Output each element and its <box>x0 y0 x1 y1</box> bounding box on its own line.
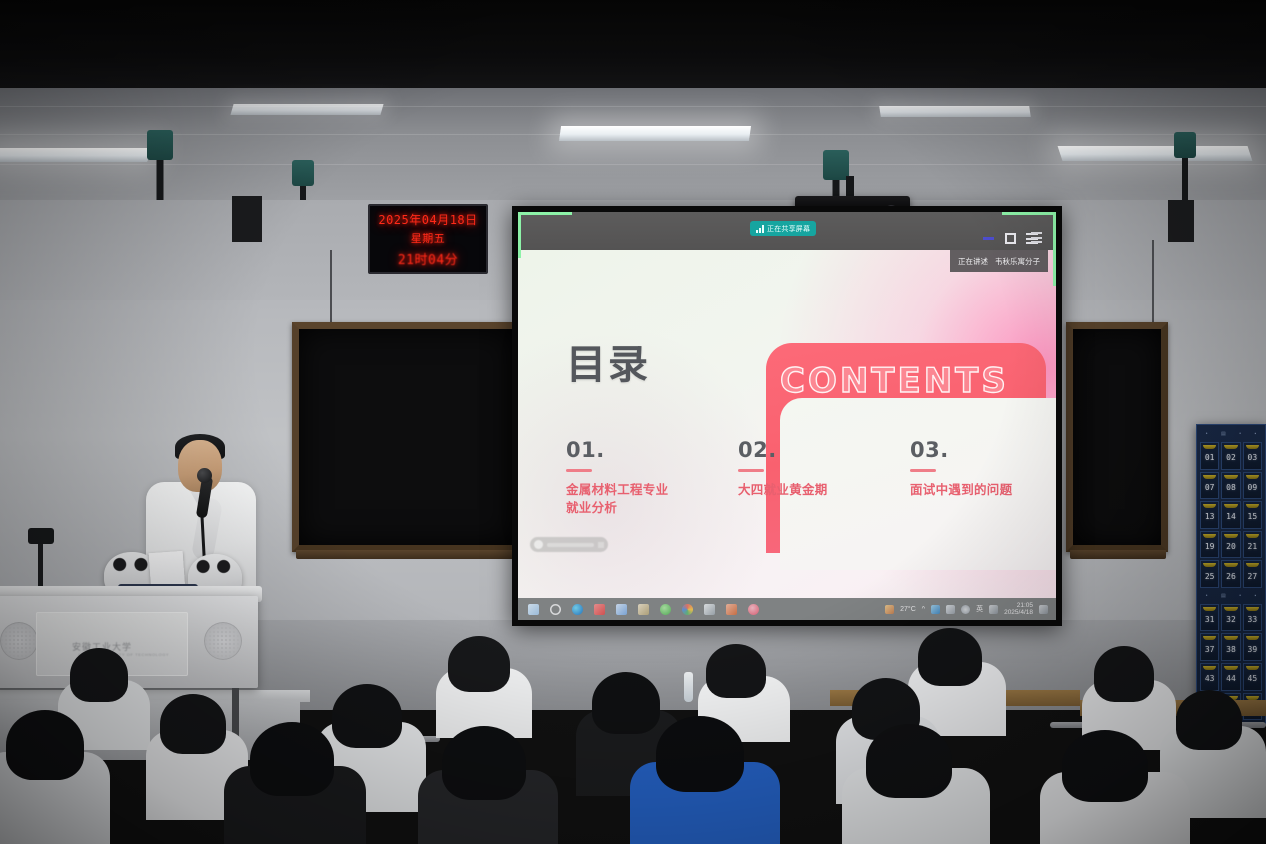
locker-number: 44 <box>1226 674 1236 683</box>
student-head <box>1176 690 1242 750</box>
student-head <box>448 636 510 692</box>
microphone-head-icon <box>197 468 212 483</box>
narrator-status: 正在讲述 <box>958 256 988 267</box>
weather-temperature: 27°C <box>900 606 916 613</box>
locker-panel-header: •▤•▪ <box>1200 428 1262 440</box>
battery-icon[interactable] <box>989 605 998 614</box>
contents-item[interactable]: 01. 金属材料工程专业就业分析 <box>566 438 676 517</box>
chrome-icon[interactable] <box>682 604 693 615</box>
ime-indicator[interactable]: 英 <box>976 604 983 614</box>
locker-cell[interactable]: 20 <box>1221 531 1240 559</box>
locker-cell[interactable]: 15 <box>1243 501 1262 529</box>
network-icon[interactable] <box>931 605 940 614</box>
locker-cell[interactable]: 39 <box>1243 633 1262 661</box>
locker-cell[interactable]: 08 <box>1221 472 1240 500</box>
photos-icon[interactable] <box>638 604 649 615</box>
windows-taskbar[interactable]: 27°C ^ 英 21:05 2025/4/18 <box>518 598 1056 620</box>
student-head <box>918 628 982 686</box>
locker-cell[interactable]: 07 <box>1200 472 1219 500</box>
wechat-icon[interactable] <box>660 604 671 615</box>
locker-number: 31 <box>1205 615 1215 624</box>
locker-number: 26 <box>1226 572 1236 581</box>
locker-cell[interactable]: 25 <box>1200 560 1219 588</box>
locker-number: 38 <box>1226 645 1236 654</box>
blackboard-left <box>292 322 520 552</box>
led-clock-date: 2025年04月18日 <box>378 211 477 228</box>
item-label: 大四就业黄金期 <box>738 481 848 499</box>
screen-share-badge[interactable]: 正在共享屏幕 <box>750 221 816 236</box>
locker-number: 20 <box>1226 542 1236 551</box>
speech-icon[interactable] <box>946 605 955 614</box>
narrator-tooltip: 正在讲述 韦秋乐寓分子 <box>950 250 1048 272</box>
locker-number: 43 <box>1205 674 1215 683</box>
chevron-up-icon[interactable]: ^ <box>922 606 925 613</box>
locker-number: 27 <box>1248 572 1258 581</box>
locker-row: 43 44 45 <box>1200 663 1262 691</box>
locker-cell[interactable]: 14 <box>1221 501 1240 529</box>
locker-row: 13 14 15 <box>1200 501 1262 529</box>
student-head <box>442 726 526 800</box>
signal-bars-icon <box>756 225 764 233</box>
item-number: 01. <box>566 438 676 462</box>
locker-number: 33 <box>1248 615 1258 624</box>
screen-corner-mark <box>518 212 572 215</box>
locker-cell[interactable]: 01 <box>1200 442 1219 470</box>
locker-cell[interactable]: 37 <box>1200 633 1219 661</box>
student-head <box>6 710 84 780</box>
item-number: 02. <box>738 438 848 462</box>
wall-speaker-box <box>232 196 262 242</box>
item-rule <box>738 469 764 472</box>
led-clock-display: 2025年04月18日 星期五 21时04分 <box>368 204 488 274</box>
settings-icon[interactable] <box>961 605 970 614</box>
taskbar-clock-date: 2025/4/18 <box>1004 609 1033 616</box>
locker-cell[interactable]: 44 <box>1221 663 1240 691</box>
locker-cell[interactable]: 09 <box>1243 472 1262 500</box>
projection-screen-surface[interactable]: 正在共享屏幕 正在讲述 韦秋乐寓分子 CONTENTS 目录 <box>518 212 1056 620</box>
toolbar-field <box>547 543 594 547</box>
more-options-icon[interactable] <box>1031 232 1042 243</box>
powerpoint-icon[interactable] <box>726 604 737 615</box>
locker-number: 02 <box>1226 453 1236 462</box>
taskbar-system-tray[interactable]: 27°C ^ 英 21:05 2025/4/18 <box>885 602 1056 617</box>
maximize-icon[interactable] <box>1004 232 1017 245</box>
student-head <box>160 694 226 754</box>
locker-number: 07 <box>1205 483 1215 492</box>
locker-cell[interactable]: 26 <box>1221 560 1240 588</box>
locker-cell[interactable]: 38 <box>1221 633 1240 661</box>
chalk-tray <box>1070 550 1166 559</box>
wall-speaker-box <box>1168 200 1194 242</box>
contents-item[interactable]: 02. 大四就业黄金期 <box>738 438 848 517</box>
contents-heading: CONTENTS <box>780 361 1009 401</box>
taskbar-clock[interactable]: 21:05 2025/4/18 <box>1004 602 1033 617</box>
contents-items: 01. 金属材料工程专业就业分析 02. 大四就业黄金期 03. 面试中遇到的问… <box>566 438 1020 517</box>
locker-cell[interactable]: 32 <box>1221 604 1240 632</box>
locker-number: 39 <box>1248 645 1258 654</box>
narrator-detail: 韦秋乐寓分子 <box>995 256 1040 267</box>
screen-corner-mark <box>1002 212 1056 215</box>
locker-number: 01 <box>1205 453 1215 462</box>
share-badge-label: 正在共享屏幕 <box>767 224 810 234</box>
camera-tripod-head <box>28 528 54 544</box>
locker-panel-divider: •▤•▪ <box>1200 590 1262 602</box>
phone-storage-locker-panel[interactable]: •▤•▪ 01 02 03 07 08 09 13 14 15 19 20 21… <box>1196 424 1266 724</box>
locker-cell[interactable]: 43 <box>1200 663 1219 691</box>
locker-cell[interactable]: 13 <box>1200 501 1219 529</box>
contents-item[interactable]: 03. 面试中遇到的问题 <box>910 438 1020 517</box>
led-clock-time: 21时04分 <box>398 249 458 268</box>
locker-number: 09 <box>1248 483 1258 492</box>
locker-cell[interactable]: 19 <box>1200 531 1219 559</box>
item-rule <box>566 469 592 472</box>
locker-row: 31 32 33 <box>1200 604 1262 632</box>
locker-number: 21 <box>1248 542 1258 551</box>
locker-row: 01 02 03 <box>1200 442 1262 470</box>
locker-cell[interactable]: 33 <box>1243 604 1262 632</box>
item-rule <box>910 469 936 472</box>
locker-number: 03 <box>1248 453 1258 462</box>
locker-row: 07 08 09 <box>1200 472 1262 500</box>
screen-corner-mark <box>1053 212 1056 286</box>
student-head <box>1062 730 1148 802</box>
locker-number: 15 <box>1248 512 1258 521</box>
file-explorer-icon[interactable] <box>616 604 627 615</box>
locker-cell[interactable]: 45 <box>1243 663 1262 691</box>
locker-number: 19 <box>1205 542 1215 551</box>
slide-floating-toolbar[interactable] <box>530 537 608 552</box>
toolbar-dot-icon <box>534 540 543 549</box>
projection-screen-frame: 正在共享屏幕 正在讲述 韦秋乐寓分子 CONTENTS 目录 <box>512 206 1062 626</box>
weather-icon[interactable] <box>885 605 894 614</box>
locker-number: 25 <box>1205 572 1215 581</box>
locker-number: 13 <box>1205 512 1215 521</box>
lectern-speaker-grille <box>0 622 38 660</box>
lectern-speaker-grille <box>204 622 242 660</box>
student-head <box>592 672 660 734</box>
student-head <box>70 648 128 702</box>
locker-number: 08 <box>1226 483 1236 492</box>
search-icon[interactable] <box>550 604 561 615</box>
student-head <box>866 724 952 798</box>
locker-number: 14 <box>1226 512 1236 521</box>
item-label: 金属材料工程专业就业分析 <box>566 481 676 517</box>
locker-cell[interactable]: 21 <box>1243 531 1262 559</box>
taskbar-app-icons[interactable] <box>518 604 759 615</box>
chalk-tray <box>296 550 516 559</box>
locker-row: 19 20 21 <box>1200 531 1262 559</box>
locker-cell[interactable]: 02 <box>1221 442 1240 470</box>
taskbar-clock-time: 21:05 <box>1017 602 1033 609</box>
locker-cell[interactable]: 31 <box>1200 604 1219 632</box>
blackboard-right <box>1066 322 1168 552</box>
ceiling-dark-band <box>0 0 1266 95</box>
window-controls[interactable] <box>982 232 1038 245</box>
water-bottle <box>684 672 693 702</box>
student-head <box>332 684 402 748</box>
powerpoint-slide[interactable]: CONTENTS 目录 01. 金属材料工程专业就业分析 02. 大四就业黄金期 <box>518 250 1056 598</box>
item-number: 03. <box>910 438 1020 462</box>
screen-corner-mark <box>518 212 521 258</box>
locker-row: 37 38 39 <box>1200 633 1262 661</box>
student-head <box>250 722 334 796</box>
student-head <box>1094 646 1154 702</box>
led-clock-weekday: 星期五 <box>411 230 446 246</box>
classroom-scene: 2025年04月18日 星期五 21时04分 正在共享屏幕 <box>0 0 1266 844</box>
windows-start-icon[interactable] <box>528 604 539 615</box>
ceiling-light-panel <box>230 104 383 115</box>
toolbar-tick-icon <box>598 542 604 548</box>
student-head <box>656 716 744 792</box>
locker-number: 37 <box>1205 645 1215 654</box>
locker-cell[interactable]: 03 <box>1243 442 1262 470</box>
locker-number: 32 <box>1226 615 1236 624</box>
notification-icon[interactable] <box>1039 605 1048 614</box>
media-app-icon[interactable] <box>748 604 759 615</box>
locker-row: 25 26 27 <box>1200 560 1262 588</box>
minimize-icon[interactable] <box>982 232 995 245</box>
locker-number: 45 <box>1248 674 1258 683</box>
folder-icon[interactable] <box>704 604 715 615</box>
ceiling-light-panel <box>879 106 1031 117</box>
ceiling-light-panel <box>559 126 751 141</box>
slide-title: 目录 <box>566 332 650 390</box>
item-label: 面试中遇到的问题 <box>910 481 1020 499</box>
wps-office-icon[interactable] <box>594 604 605 615</box>
lectern-body[interactable]: 安徽工业大学 ANHUI UNIVERSITY OF TECHNOLOGY <box>0 596 258 688</box>
edge-browser-icon[interactable] <box>572 604 583 615</box>
student-head <box>706 644 766 698</box>
locker-cell[interactable]: 27 <box>1243 560 1262 588</box>
